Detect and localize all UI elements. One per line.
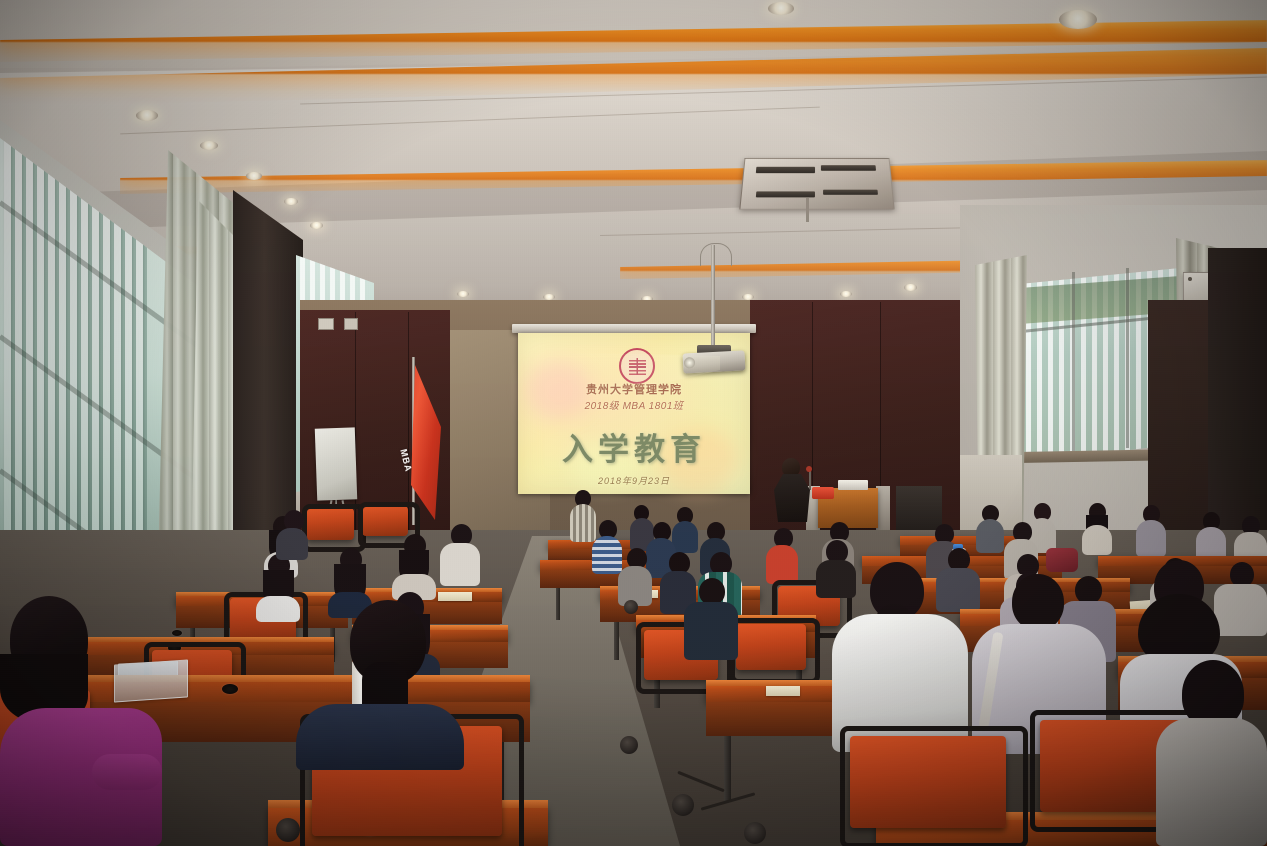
chair-caster — [744, 822, 766, 844]
audience-member — [440, 524, 480, 586]
projector-lens-icon — [684, 357, 696, 369]
person-torso — [684, 602, 738, 660]
person-torso — [976, 519, 1004, 553]
person-torso — [766, 545, 798, 584]
presenter-laptop — [838, 480, 868, 490]
seat-frame — [302, 504, 366, 552]
seat-frame — [730, 618, 820, 684]
person-torso — [1156, 718, 1267, 846]
seat-frame — [840, 726, 1028, 846]
audience-member — [256, 554, 300, 622]
paper-sheet — [766, 686, 800, 696]
classroom-photo: 贵州大学管理学院 2018级 MBA 1801班 入学教育 2018年9月23日… — [0, 0, 1267, 846]
slide-date-text: 2018年9月23日 — [518, 474, 750, 487]
downlight-icon — [904, 284, 917, 291]
podium-side-panel — [876, 486, 890, 532]
audience-member — [976, 505, 1004, 553]
audience-member — [618, 548, 652, 606]
person-arm — [92, 754, 162, 790]
presenter — [772, 458, 812, 520]
downlight-icon — [457, 291, 469, 297]
projector-cable — [700, 243, 732, 266]
audience-member-foreground — [832, 562, 968, 752]
backpack — [1046, 548, 1078, 572]
audience-member — [1136, 505, 1166, 557]
screen-roller-housing — [512, 324, 756, 333]
desk-leg — [556, 588, 560, 620]
presenter-body — [774, 474, 810, 522]
ac-drop-rod — [806, 198, 809, 222]
wall-switch-plate — [344, 318, 358, 330]
chair-caster — [276, 818, 300, 842]
wall-switch-plate — [318, 318, 334, 330]
audience-member-foreground — [1156, 660, 1267, 846]
projector-mount-pole — [711, 245, 715, 348]
university-seal-icon — [619, 348, 655, 384]
slide-title-text: 入学教育 — [518, 424, 750, 469]
person-torso — [1136, 520, 1166, 557]
person-torso — [276, 528, 308, 560]
downlight-icon — [840, 291, 852, 297]
audience-member — [1196, 512, 1226, 562]
chair-caster — [672, 794, 694, 816]
chair-caster — [624, 600, 638, 614]
person-torso — [296, 704, 464, 770]
audience-member — [684, 578, 738, 660]
downlight-icon — [310, 222, 323, 229]
downlight-icon — [768, 2, 794, 15]
chair-caster — [620, 736, 638, 754]
red-decor-box — [812, 487, 834, 499]
person-torso — [256, 596, 300, 622]
audience-member-foreground — [0, 596, 162, 846]
audience-member — [392, 534, 436, 600]
flipchart-whiteboard — [315, 427, 357, 500]
desk-cable-grommet — [172, 630, 182, 636]
audience-member — [766, 528, 798, 584]
ceiling-projector — [683, 350, 746, 373]
slide-organization-text: 贵州大学管理学院 — [518, 381, 750, 397]
person-head — [1012, 574, 1064, 630]
ceiling-ac-unit — [739, 158, 894, 209]
downlight-icon — [136, 110, 158, 121]
audience-member-foreground — [296, 600, 464, 770]
person-torso — [440, 543, 480, 586]
window-mullion — [1126, 268, 1129, 448]
speaker-led-icon — [1188, 277, 1192, 281]
window-mullion — [1072, 272, 1075, 452]
downlight-icon — [1059, 10, 1097, 29]
person-head — [699, 578, 725, 605]
downlight-icon — [284, 198, 298, 205]
downlight-icon — [200, 141, 218, 150]
desk-leg — [614, 622, 619, 660]
downlight-icon — [246, 172, 262, 180]
audience-member — [276, 510, 308, 560]
slide-class-text: 2018级 MBA 1801班 — [518, 397, 750, 412]
desk-cable-grommet — [222, 684, 238, 694]
person-torso — [618, 566, 652, 606]
person-torso — [1082, 525, 1112, 555]
audience-member — [1082, 503, 1112, 555]
desk-leg — [724, 736, 731, 802]
